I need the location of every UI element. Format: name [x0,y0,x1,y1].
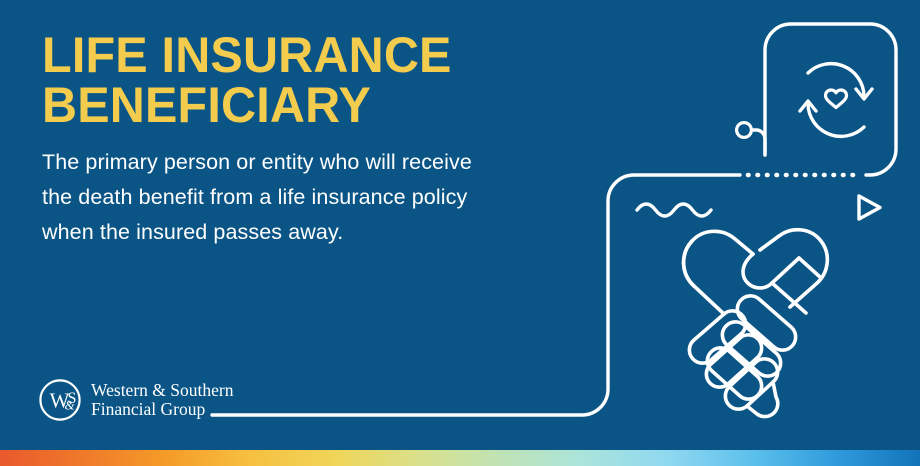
page-title-line-2: Beneficiary [42,80,498,130]
circle-terminal-icon [737,123,752,138]
play-triangle-icon [859,196,880,219]
gradient-accent-bar [0,450,920,466]
brand-logo: W & S Western & Southern Financial Group [38,378,233,422]
page-title: Life Insurance Beneficiary [42,30,498,130]
brand-wordmark-line-1: Western & Southern [91,381,233,400]
svg-text:S: S [68,390,77,407]
rounded-rect-frame [765,24,896,175]
brand-wordmark: Western & Southern Financial Group [91,381,233,419]
squiggle-icon [637,204,711,216]
definition-text: The primary person or entity who will re… [42,145,482,250]
handshake-heart-icon [684,230,828,417]
ws-monogram-icon: W & S [38,378,82,422]
promo-card: Life Insurance Beneficiary The primary p… [0,0,920,466]
brand-wordmark-line-2: Financial Group [91,400,233,419]
circle-terminal-tail [752,130,765,155]
page-title-line-1: Life Insurance [42,30,498,80]
refresh-heart-icon [800,64,872,137]
